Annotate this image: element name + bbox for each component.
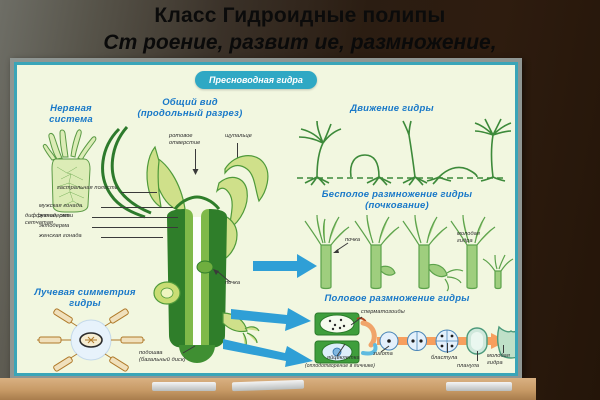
label-young-hydra-asexual-line2: гидра xyxy=(457,238,497,245)
slide-title-line1: Класс Гидроидные полипы xyxy=(0,0,600,29)
slide-title: Класс Гидроидные полипы Ст роение, разви… xyxy=(0,0,600,62)
whiteboard-content: Пресноводная гидра Нервная система диффу… xyxy=(17,65,515,373)
leader-gastral xyxy=(121,192,157,193)
tray-eraser-2[interactable] xyxy=(232,380,304,392)
heading-radial-symmetry-line2: гидры xyxy=(25,298,145,309)
heading-asexual-line2: (почкование) xyxy=(317,200,477,211)
heading-radial-symmetry-line1: Лучевая симметрия xyxy=(25,287,145,298)
heading-sexual-reproduction: Половое размножение гидры xyxy=(313,293,481,304)
label-spermatozoa: сперматозоиды xyxy=(361,309,405,316)
tray-eraser-3[interactable] xyxy=(446,382,512,391)
heading-general-view-line1: Общий вид xyxy=(125,97,255,108)
leader-zygote-icon xyxy=(379,345,391,353)
label-sole-line2: (базальный диск) xyxy=(139,357,205,364)
banner-freshwater-hydra: Пресноводная гидра xyxy=(195,71,317,89)
label-young-hydra-asexual: молодая гидра xyxy=(457,231,497,245)
label-endoderm: энтодерма xyxy=(39,213,70,220)
heading-radial-symmetry: Лучевая симметрия гидры xyxy=(25,287,145,309)
heading-movement: Движение гидры xyxy=(317,103,467,114)
tray-eraser-1[interactable] xyxy=(152,382,216,391)
label-young-hydra-sexual: молодая гидра xyxy=(487,353,515,367)
label-young-hydra-asexual-line1: молодая xyxy=(457,231,497,238)
leader-male-gonad xyxy=(101,207,173,208)
budding-sequence-illustration xyxy=(305,215,511,291)
label-gastral-cavity: гастральная полость xyxy=(57,185,118,192)
label-young-hydra-sexual-line2: гидра xyxy=(487,360,515,367)
label-female-gonad: женская гонада xyxy=(39,233,82,240)
leader-egg-cell-icon xyxy=(335,343,349,357)
leader-bud-central-icon xyxy=(213,269,231,283)
heading-general-view: Общий вид (продольный разрез) xyxy=(125,97,255,119)
whiteboard-tray xyxy=(0,378,536,400)
arrow-to-budding-icon xyxy=(253,253,319,279)
arrow-to-egg-icon xyxy=(223,337,315,369)
radial-symmetry-illustration xyxy=(35,311,147,369)
leader-planula xyxy=(477,351,478,361)
slide-title-line2: Ст роение, развит ие, размножение, xyxy=(0,29,600,56)
leader-female-gonad xyxy=(101,237,163,238)
label-fertilization: (оплодотворение в яичнике) xyxy=(305,363,375,370)
leader-ectoderm xyxy=(92,227,178,228)
leader-endoderm xyxy=(92,217,178,218)
label-young-hydra-sexual-line1: молодая xyxy=(487,353,515,360)
leader-bud-asexual-icon xyxy=(333,241,349,253)
heading-asexual-line1: Бесполое размножение гидры xyxy=(317,189,477,200)
leader-young-hydra-sexual xyxy=(503,345,504,353)
arrow-to-sperm-icon xyxy=(231,305,313,333)
label-blastula: бластула xyxy=(431,355,457,362)
label-ectoderm: эктодерма xyxy=(39,223,69,230)
hydra-movement-illustration xyxy=(297,121,507,187)
leader-sole-icon xyxy=(183,345,197,355)
heading-nervous-system-line1: Нервная xyxy=(25,103,117,114)
leader-spermatozoa-icon xyxy=(349,315,363,327)
heading-asexual-reproduction: Бесполое размножение гидры (почкование) xyxy=(317,189,477,211)
label-male-gonad: мужская гонада xyxy=(39,203,82,210)
leader-blastula xyxy=(447,343,448,353)
label-planula: планула xyxy=(457,363,479,370)
